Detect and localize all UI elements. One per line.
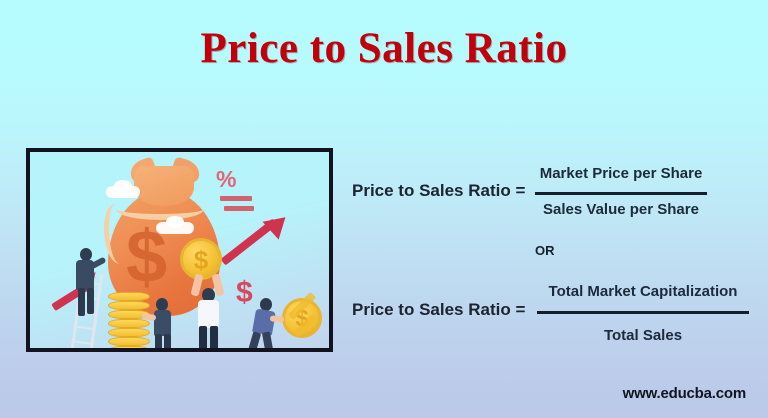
person-pushing-coin: [246, 298, 286, 352]
person-climbing-ladder: [68, 248, 102, 318]
or-separator: OR: [535, 243, 555, 258]
upward-arrow-head-icon: [263, 208, 294, 239]
person-lifting-coin: [190, 280, 226, 352]
formula-1-numerator: Market Price per Share: [535, 165, 707, 182]
equals-icon-bottom: [224, 206, 254, 211]
slide-canvas: Price to Sales Ratio $ % $ $ $: [0, 0, 768, 418]
formula-2-denominator: Total Sales: [537, 327, 749, 344]
coin-stack-icon: [108, 292, 150, 352]
formula-1-fraction-bar: [535, 192, 707, 195]
cloud-puff-icon: [166, 216, 184, 228]
page-title: Price to Sales Ratio: [0, 24, 768, 73]
formula-1-denominator: Sales Value per Share: [535, 201, 707, 218]
equals-icon-top: [220, 196, 252, 201]
footer-website-url: www.educba.com: [623, 385, 746, 402]
formula-2-label: Price to Sales Ratio =: [352, 300, 525, 320]
formula-2-numerator: Total Market Capitalization: [537, 283, 749, 300]
formula-2-fraction-bar: [537, 311, 749, 314]
percent-icon: %: [216, 166, 236, 193]
formula-1-label: Price to Sales Ratio =: [352, 181, 525, 201]
illustration-frame: $ % $ $ $: [26, 148, 333, 352]
cloud-puff-icon: [114, 180, 132, 192]
person-carrying-coin: [148, 298, 178, 352]
